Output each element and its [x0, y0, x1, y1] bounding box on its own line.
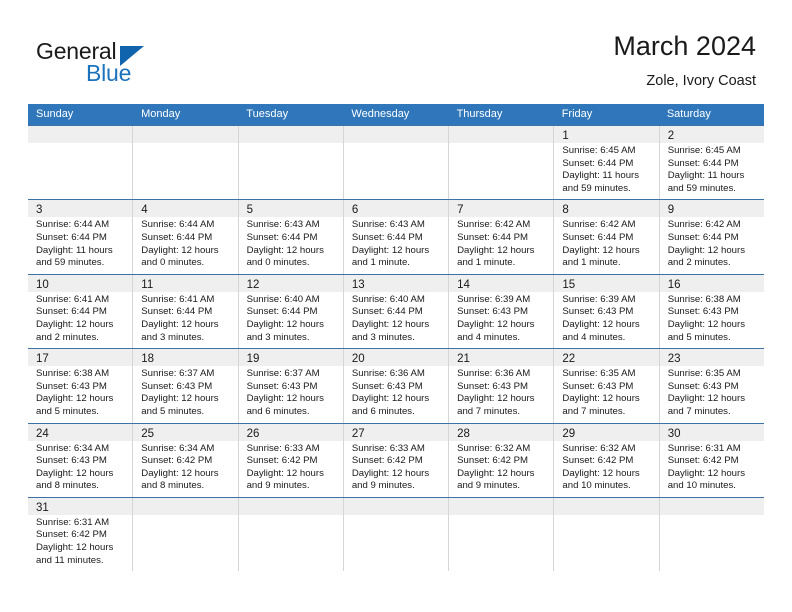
- day-number-bar: 18: [133, 349, 237, 366]
- day-details: Sunrise: 6:34 AMSunset: 6:42 PMDaylight:…: [133, 441, 237, 497]
- day-number-bar: 13: [344, 275, 448, 292]
- sunrise-text: Sunrise: 6:36 AM: [457, 368, 547, 381]
- sunrise-text: Sunrise: 6:35 AM: [562, 368, 652, 381]
- sunset-text: Sunset: 6:44 PM: [668, 158, 758, 171]
- weekday-tuesday: Tuesday: [238, 104, 343, 125]
- calendar-day-cell[interactable]: 27Sunrise: 6:33 AMSunset: 6:42 PMDayligh…: [344, 424, 449, 497]
- day-details: Sunrise: 6:43 AMSunset: 6:44 PMDaylight:…: [344, 217, 448, 273]
- day-details: Sunrise: 6:32 AMSunset: 6:42 PMDaylight:…: [554, 441, 658, 497]
- day-details: Sunrise: 6:42 AMSunset: 6:44 PMDaylight:…: [660, 217, 764, 273]
- day-number-bar: 9: [660, 200, 764, 217]
- day-number-bar: 16: [660, 275, 764, 292]
- day-details: Sunrise: 6:41 AMSunset: 6:44 PMDaylight:…: [28, 292, 132, 348]
- day-number-bar: 25: [133, 424, 237, 441]
- day-number: 29: [562, 428, 575, 440]
- day-number-bar: 23: [660, 349, 764, 366]
- calendar-day-cell[interactable]: 22Sunrise: 6:35 AMSunset: 6:43 PMDayligh…: [554, 349, 659, 422]
- calendar-day-cell[interactable]: 8Sunrise: 6:42 AMSunset: 6:44 PMDaylight…: [554, 200, 659, 273]
- sunrise-text: Sunrise: 6:43 AM: [352, 219, 442, 232]
- day-number: 5: [247, 204, 253, 216]
- daylight-text-line1: Daylight: 12 hours: [141, 393, 231, 406]
- page-title: March 2024: [613, 30, 756, 62]
- sunset-text: Sunset: 6:44 PM: [247, 306, 337, 319]
- daylight-text-line2: and 5 minutes.: [668, 332, 758, 345]
- sunrise-text: Sunrise: 6:32 AM: [457, 443, 547, 456]
- day-number: 1: [562, 130, 568, 142]
- day-number: 28: [457, 428, 470, 440]
- daylight-text-line1: Daylight: 12 hours: [247, 319, 337, 332]
- sunset-text: Sunset: 6:43 PM: [36, 455, 126, 468]
- daylight-text-line1: Daylight: 12 hours: [141, 319, 231, 332]
- day-details: Sunrise: 6:41 AMSunset: 6:44 PMDaylight:…: [133, 292, 237, 348]
- day-number-bar: 31: [28, 498, 132, 515]
- day-details: Sunrise: 6:44 AMSunset: 6:44 PMDaylight:…: [28, 217, 132, 273]
- day-number: 31: [36, 502, 49, 514]
- daylight-text-line2: and 10 minutes.: [562, 480, 652, 493]
- day-number: 25: [141, 428, 154, 440]
- weekday-header-row: Sunday Monday Tuesday Wednesday Thursday…: [28, 104, 764, 125]
- logo-text-blue: Blue: [86, 60, 131, 87]
- day-number-bar: [28, 126, 132, 143]
- day-details: Sunrise: 6:45 AMSunset: 6:44 PMDaylight:…: [554, 143, 658, 199]
- day-number-bar: 26: [239, 424, 343, 441]
- sunrise-text: Sunrise: 6:35 AM: [668, 368, 758, 381]
- day-number-bar: 17: [28, 349, 132, 366]
- daylight-text-line2: and 8 minutes.: [141, 480, 231, 493]
- day-number-bar: [449, 498, 553, 515]
- day-number-bar: [344, 498, 448, 515]
- sunrise-text: Sunrise: 6:39 AM: [457, 294, 547, 307]
- sunrise-text: Sunrise: 6:41 AM: [36, 294, 126, 307]
- calendar-week-row: 10Sunrise: 6:41 AMSunset: 6:44 PMDayligh…: [28, 274, 764, 348]
- day-number-bar: [449, 126, 553, 143]
- calendar-day-cell[interactable]: 10Sunrise: 6:41 AMSunset: 6:44 PMDayligh…: [28, 275, 133, 348]
- calendar-day-cell[interactable]: 11Sunrise: 6:41 AMSunset: 6:44 PMDayligh…: [133, 275, 238, 348]
- day-number: 11: [141, 279, 153, 291]
- day-number-bar: 27: [344, 424, 448, 441]
- day-details: Sunrise: 6:36 AMSunset: 6:43 PMDaylight:…: [449, 366, 553, 422]
- page-header: General Blue March 2024 Zole, Ivory Coas…: [0, 0, 792, 104]
- calendar-day-cell[interactable]: 19Sunrise: 6:37 AMSunset: 6:43 PMDayligh…: [239, 349, 344, 422]
- sunset-text: Sunset: 6:44 PM: [352, 232, 442, 245]
- calendar-day-cell[interactable]: 24Sunrise: 6:34 AMSunset: 6:43 PMDayligh…: [28, 424, 133, 497]
- calendar-day-cell[interactable]: 4Sunrise: 6:44 AMSunset: 6:44 PMDaylight…: [133, 200, 238, 273]
- day-number-bar: 19: [239, 349, 343, 366]
- sunset-text: Sunset: 6:44 PM: [141, 232, 231, 245]
- calendar-empty-cell: [239, 126, 344, 199]
- sunrise-text: Sunrise: 6:40 AM: [352, 294, 442, 307]
- weekday-thursday: Thursday: [449, 104, 554, 125]
- sunrise-text: Sunrise: 6:34 AM: [36, 443, 126, 456]
- day-details: Sunrise: 6:32 AMSunset: 6:42 PMDaylight:…: [449, 441, 553, 497]
- calendar-day-cell[interactable]: 14Sunrise: 6:39 AMSunset: 6:43 PMDayligh…: [449, 275, 554, 348]
- day-number-bar: 11: [133, 275, 237, 292]
- calendar-day-cell[interactable]: 15Sunrise: 6:39 AMSunset: 6:43 PMDayligh…: [554, 275, 659, 348]
- day-number: 4: [141, 204, 147, 216]
- day-number-bar: 14: [449, 275, 553, 292]
- sunrise-text: Sunrise: 6:34 AM: [141, 443, 231, 456]
- daylight-text-line1: Daylight: 12 hours: [457, 245, 547, 258]
- day-number: 26: [247, 428, 260, 440]
- calendar-day-cell[interactable]: 26Sunrise: 6:33 AMSunset: 6:42 PMDayligh…: [239, 424, 344, 497]
- sunset-text: Sunset: 6:44 PM: [141, 306, 231, 319]
- day-number: 2: [668, 130, 674, 142]
- day-details: Sunrise: 6:31 AMSunset: 6:42 PMDaylight:…: [660, 441, 764, 497]
- calendar-day-cell[interactable]: 29Sunrise: 6:32 AMSunset: 6:42 PMDayligh…: [554, 424, 659, 497]
- calendar-weeks: 1Sunrise: 6:45 AMSunset: 6:44 PMDaylight…: [28, 125, 764, 571]
- day-number: 16: [668, 279, 681, 291]
- day-number: 7: [457, 204, 463, 216]
- sunset-text: Sunset: 6:43 PM: [141, 381, 231, 394]
- sunrise-text: Sunrise: 6:45 AM: [562, 145, 652, 158]
- day-details: Sunrise: 6:39 AMSunset: 6:43 PMDaylight:…: [554, 292, 658, 348]
- calendar-day-cell[interactable]: 21Sunrise: 6:36 AMSunset: 6:43 PMDayligh…: [449, 349, 554, 422]
- day-number: 27: [352, 428, 365, 440]
- sunset-text: Sunset: 6:43 PM: [247, 381, 337, 394]
- day-details: Sunrise: 6:37 AMSunset: 6:43 PMDaylight:…: [239, 366, 343, 422]
- calendar-day-cell[interactable]: 18Sunrise: 6:37 AMSunset: 6:43 PMDayligh…: [133, 349, 238, 422]
- calendar-empty-cell: [133, 126, 238, 199]
- daylight-text-line1: Daylight: 11 hours: [36, 245, 126, 258]
- sunset-text: Sunset: 6:43 PM: [457, 306, 547, 319]
- day-details: Sunrise: 6:34 AMSunset: 6:43 PMDaylight:…: [28, 441, 132, 497]
- day-number-bar: 1: [554, 126, 658, 143]
- daylight-text-line2: and 11 minutes.: [36, 555, 126, 568]
- day-number: 23: [668, 353, 681, 365]
- day-number-bar: [554, 498, 658, 515]
- sunset-text: Sunset: 6:44 PM: [352, 306, 442, 319]
- day-number-bar: 3: [28, 200, 132, 217]
- sunset-text: Sunset: 6:44 PM: [562, 232, 652, 245]
- day-number-bar: 24: [28, 424, 132, 441]
- daylight-text-line2: and 5 minutes.: [36, 406, 126, 419]
- sunrise-text: Sunrise: 6:33 AM: [247, 443, 337, 456]
- daylight-text-line2: and 4 minutes.: [457, 332, 547, 345]
- day-details: Sunrise: 6:35 AMSunset: 6:43 PMDaylight:…: [554, 366, 658, 422]
- daylight-text-line1: Daylight: 12 hours: [562, 319, 652, 332]
- sunset-text: Sunset: 6:44 PM: [668, 232, 758, 245]
- day-number-bar: 6: [344, 200, 448, 217]
- daylight-text-line1: Daylight: 12 hours: [247, 468, 337, 481]
- sunset-text: Sunset: 6:43 PM: [668, 381, 758, 394]
- daylight-text-line1: Daylight: 11 hours: [668, 170, 758, 183]
- day-number: 3: [36, 204, 42, 216]
- day-number: 17: [36, 353, 49, 365]
- sunset-text: Sunset: 6:44 PM: [457, 232, 547, 245]
- day-details: Sunrise: 6:45 AMSunset: 6:44 PMDaylight:…: [660, 143, 764, 199]
- day-details: Sunrise: 6:44 AMSunset: 6:44 PMDaylight:…: [133, 217, 237, 273]
- day-number-bar: 28: [449, 424, 553, 441]
- sunrise-text: Sunrise: 6:38 AM: [36, 368, 126, 381]
- calendar-day-cell[interactable]: 5Sunrise: 6:43 AMSunset: 6:44 PMDaylight…: [239, 200, 344, 273]
- calendar-day-cell[interactable]: 23Sunrise: 6:35 AMSunset: 6:43 PMDayligh…: [660, 349, 764, 422]
- sunrise-text: Sunrise: 6:31 AM: [36, 517, 126, 530]
- daylight-text-line2: and 10 minutes.: [668, 480, 758, 493]
- daylight-text-line1: Daylight: 12 hours: [668, 468, 758, 481]
- sunrise-text: Sunrise: 6:42 AM: [668, 219, 758, 232]
- day-number: 8: [562, 204, 568, 216]
- sunset-text: Sunset: 6:42 PM: [457, 455, 547, 468]
- day-number: 9: [668, 204, 674, 216]
- sunrise-text: Sunrise: 6:38 AM: [668, 294, 758, 307]
- calendar-empty-cell: [344, 126, 449, 199]
- sunrise-text: Sunrise: 6:42 AM: [562, 219, 652, 232]
- calendar-day-cell[interactable]: 30Sunrise: 6:31 AMSunset: 6:42 PMDayligh…: [660, 424, 764, 497]
- sunset-text: Sunset: 6:42 PM: [352, 455, 442, 468]
- daylight-text-line2: and 8 minutes.: [36, 480, 126, 493]
- daylight-text-line1: Daylight: 12 hours: [247, 245, 337, 258]
- day-details: Sunrise: 6:43 AMSunset: 6:44 PMDaylight:…: [239, 217, 343, 273]
- daylight-text-line2: and 6 minutes.: [247, 406, 337, 419]
- day-number: 30: [668, 428, 681, 440]
- day-number-bar: [133, 498, 237, 515]
- sunset-text: Sunset: 6:42 PM: [562, 455, 652, 468]
- daylight-text-line1: Daylight: 12 hours: [247, 393, 337, 406]
- calendar-day-cell[interactable]: 7Sunrise: 6:42 AMSunset: 6:44 PMDaylight…: [449, 200, 554, 273]
- day-details: Sunrise: 6:31 AMSunset: 6:42 PMDaylight:…: [28, 515, 132, 571]
- calendar-day-cell[interactable]: 25Sunrise: 6:34 AMSunset: 6:42 PMDayligh…: [133, 424, 238, 497]
- day-number-bar: 20: [344, 349, 448, 366]
- daylight-text-line2: and 59 minutes.: [36, 257, 126, 270]
- sunrise-text: Sunrise: 6:44 AM: [141, 219, 231, 232]
- daylight-text-line1: Daylight: 12 hours: [668, 245, 758, 258]
- sunrise-text: Sunrise: 6:36 AM: [352, 368, 442, 381]
- daylight-text-line2: and 1 minute.: [352, 257, 442, 270]
- calendar-week-row: 17Sunrise: 6:38 AMSunset: 6:43 PMDayligh…: [28, 348, 764, 422]
- daylight-text-line2: and 7 minutes.: [668, 406, 758, 419]
- day-details: Sunrise: 6:40 AMSunset: 6:44 PMDaylight:…: [239, 292, 343, 348]
- sunset-text: Sunset: 6:44 PM: [36, 306, 126, 319]
- calendar-day-cell[interactable]: 3Sunrise: 6:44 AMSunset: 6:44 PMDaylight…: [28, 200, 133, 273]
- calendar-empty-cell: [239, 498, 344, 571]
- daylight-text-line1: Daylight: 12 hours: [352, 468, 442, 481]
- sunset-text: Sunset: 6:43 PM: [562, 381, 652, 394]
- weekday-sunday: Sunday: [28, 104, 133, 125]
- day-number-bar: 30: [660, 424, 764, 441]
- daylight-text-line2: and 0 minutes.: [247, 257, 337, 270]
- calendar-empty-cell: [660, 498, 764, 571]
- day-number-bar: 7: [449, 200, 553, 217]
- daylight-text-line1: Daylight: 12 hours: [352, 245, 442, 258]
- day-number-bar: [239, 498, 343, 515]
- day-details: Sunrise: 6:38 AMSunset: 6:43 PMDaylight:…: [660, 292, 764, 348]
- daylight-text-line1: Daylight: 12 hours: [36, 319, 126, 332]
- sunrise-text: Sunrise: 6:37 AM: [141, 368, 231, 381]
- sunrise-text: Sunrise: 6:44 AM: [36, 219, 126, 232]
- daylight-text-line1: Daylight: 12 hours: [352, 319, 442, 332]
- calendar-week-row: 3Sunrise: 6:44 AMSunset: 6:44 PMDaylight…: [28, 199, 764, 273]
- daylight-text-line1: Daylight: 12 hours: [457, 468, 547, 481]
- daylight-text-line2: and 4 minutes.: [562, 332, 652, 345]
- title-block: March 2024 Zole, Ivory Coast: [613, 30, 756, 91]
- sunrise-text: Sunrise: 6:37 AM: [247, 368, 337, 381]
- daylight-text-line2: and 3 minutes.: [247, 332, 337, 345]
- sunrise-text: Sunrise: 6:42 AM: [457, 219, 547, 232]
- sunset-text: Sunset: 6:43 PM: [457, 381, 547, 394]
- sunrise-text: Sunrise: 6:40 AM: [247, 294, 337, 307]
- sunset-text: Sunset: 6:42 PM: [668, 455, 758, 468]
- weekday-monday: Monday: [133, 104, 238, 125]
- day-number: 15: [562, 279, 575, 291]
- day-number: 10: [36, 279, 49, 291]
- calendar-day-cell[interactable]: 31Sunrise: 6:31 AMSunset: 6:42 PMDayligh…: [28, 498, 133, 571]
- daylight-text-line2: and 9 minutes.: [247, 480, 337, 493]
- day-number-bar: 12: [239, 275, 343, 292]
- calendar-grid: Sunday Monday Tuesday Wednesday Thursday…: [28, 104, 764, 571]
- day-number: 13: [352, 279, 365, 291]
- daylight-text-line1: Daylight: 11 hours: [562, 170, 652, 183]
- daylight-text-line2: and 1 minute.: [562, 257, 652, 270]
- day-details: Sunrise: 6:42 AMSunset: 6:44 PMDaylight:…: [449, 217, 553, 273]
- page-subtitle: Zole, Ivory Coast: [613, 71, 756, 91]
- sunset-text: Sunset: 6:42 PM: [247, 455, 337, 468]
- day-number: 24: [36, 428, 49, 440]
- day-number-bar: 22: [554, 349, 658, 366]
- daylight-text-line1: Daylight: 12 hours: [36, 468, 126, 481]
- sunset-text: Sunset: 6:44 PM: [562, 158, 652, 171]
- sunset-text: Sunset: 6:43 PM: [352, 381, 442, 394]
- sunset-text: Sunset: 6:43 PM: [668, 306, 758, 319]
- day-number-bar: [344, 126, 448, 143]
- day-number-bar: 2: [660, 126, 764, 143]
- daylight-text-line2: and 2 minutes.: [668, 257, 758, 270]
- sunrise-text: Sunrise: 6:39 AM: [562, 294, 652, 307]
- day-details: Sunrise: 6:37 AMSunset: 6:43 PMDaylight:…: [133, 366, 237, 422]
- weekday-saturday: Saturday: [659, 104, 764, 125]
- day-details: Sunrise: 6:33 AMSunset: 6:42 PMDaylight:…: [239, 441, 343, 497]
- daylight-text-line1: Daylight: 12 hours: [562, 468, 652, 481]
- sunrise-text: Sunrise: 6:43 AM: [247, 219, 337, 232]
- day-number-bar: [133, 126, 237, 143]
- sunset-text: Sunset: 6:43 PM: [562, 306, 652, 319]
- sunrise-text: Sunrise: 6:32 AM: [562, 443, 652, 456]
- calendar-day-cell[interactable]: 13Sunrise: 6:40 AMSunset: 6:44 PMDayligh…: [344, 275, 449, 348]
- day-number-bar: [239, 126, 343, 143]
- daylight-text-line2: and 9 minutes.: [352, 480, 442, 493]
- daylight-text-line2: and 3 minutes.: [141, 332, 231, 345]
- day-number-bar: 5: [239, 200, 343, 217]
- calendar-day-cell[interactable]: 6Sunrise: 6:43 AMSunset: 6:44 PMDaylight…: [344, 200, 449, 273]
- day-number: 22: [562, 353, 575, 365]
- daylight-text-line2: and 59 minutes.: [668, 183, 758, 196]
- day-number: 21: [457, 353, 470, 365]
- day-details: Sunrise: 6:33 AMSunset: 6:42 PMDaylight:…: [344, 441, 448, 497]
- daylight-text-line2: and 5 minutes.: [141, 406, 231, 419]
- calendar-day-cell[interactable]: 20Sunrise: 6:36 AMSunset: 6:43 PMDayligh…: [344, 349, 449, 422]
- daylight-text-line2: and 59 minutes.: [562, 183, 652, 196]
- weekday-friday: Friday: [554, 104, 659, 125]
- daylight-text-line1: Daylight: 12 hours: [141, 468, 231, 481]
- daylight-text-line1: Daylight: 12 hours: [36, 542, 126, 555]
- day-number-bar: 21: [449, 349, 553, 366]
- day-number: 19: [247, 353, 260, 365]
- day-number-bar: 10: [28, 275, 132, 292]
- calendar-day-cell[interactable]: 28Sunrise: 6:32 AMSunset: 6:42 PMDayligh…: [449, 424, 554, 497]
- daylight-text-line2: and 7 minutes.: [457, 406, 547, 419]
- sunrise-text: Sunrise: 6:31 AM: [668, 443, 758, 456]
- calendar-empty-cell: [554, 498, 659, 571]
- daylight-text-line1: Daylight: 12 hours: [562, 245, 652, 258]
- daylight-text-line2: and 7 minutes.: [562, 406, 652, 419]
- daylight-text-line1: Daylight: 12 hours: [668, 393, 758, 406]
- calendar-day-cell[interactable]: 17Sunrise: 6:38 AMSunset: 6:43 PMDayligh…: [28, 349, 133, 422]
- calendar-day-cell[interactable]: 1Sunrise: 6:45 AMSunset: 6:44 PMDaylight…: [554, 126, 659, 199]
- calendar-day-cell[interactable]: 16Sunrise: 6:38 AMSunset: 6:43 PMDayligh…: [660, 275, 764, 348]
- day-number: 6: [352, 204, 358, 216]
- day-details: Sunrise: 6:39 AMSunset: 6:43 PMDaylight:…: [449, 292, 553, 348]
- day-number: 20: [352, 353, 365, 365]
- daylight-text-line1: Daylight: 12 hours: [457, 319, 547, 332]
- sunset-text: Sunset: 6:42 PM: [36, 529, 126, 542]
- calendar-empty-cell: [133, 498, 238, 571]
- sunrise-text: Sunrise: 6:45 AM: [668, 145, 758, 158]
- calendar-day-cell[interactable]: 9Sunrise: 6:42 AMSunset: 6:44 PMDaylight…: [660, 200, 764, 273]
- day-number-bar: 4: [133, 200, 237, 217]
- daylight-text-line2: and 2 minutes.: [36, 332, 126, 345]
- general-blue-logo[interactable]: General Blue: [36, 38, 216, 90]
- day-number: 18: [141, 353, 154, 365]
- calendar-week-row: 1Sunrise: 6:45 AMSunset: 6:44 PMDaylight…: [28, 125, 764, 199]
- calendar-empty-cell: [449, 498, 554, 571]
- calendar-page: General Blue March 2024 Zole, Ivory Coas…: [0, 0, 792, 612]
- day-details: Sunrise: 6:36 AMSunset: 6:43 PMDaylight:…: [344, 366, 448, 422]
- daylight-text-line2: and 1 minute.: [457, 257, 547, 270]
- calendar-empty-cell: [344, 498, 449, 571]
- day-number-bar: 29: [554, 424, 658, 441]
- calendar-day-cell[interactable]: 12Sunrise: 6:40 AMSunset: 6:44 PMDayligh…: [239, 275, 344, 348]
- day-number: 12: [247, 279, 260, 291]
- day-details: Sunrise: 6:42 AMSunset: 6:44 PMDaylight:…: [554, 217, 658, 273]
- day-details: Sunrise: 6:38 AMSunset: 6:43 PMDaylight:…: [28, 366, 132, 422]
- day-number-bar: 15: [554, 275, 658, 292]
- day-number-bar: 8: [554, 200, 658, 217]
- calendar-empty-cell: [449, 126, 554, 199]
- day-number-bar: [660, 498, 764, 515]
- calendar-week-row: 31Sunrise: 6:31 AMSunset: 6:42 PMDayligh…: [28, 497, 764, 571]
- sunset-text: Sunset: 6:42 PM: [141, 455, 231, 468]
- daylight-text-line2: and 9 minutes.: [457, 480, 547, 493]
- sunrise-text: Sunrise: 6:41 AM: [141, 294, 231, 307]
- calendar-week-row: 24Sunrise: 6:34 AMSunset: 6:43 PMDayligh…: [28, 423, 764, 497]
- daylight-text-line1: Daylight: 12 hours: [668, 319, 758, 332]
- day-number: 14: [457, 279, 470, 291]
- sunset-text: Sunset: 6:44 PM: [247, 232, 337, 245]
- weekday-wednesday: Wednesday: [343, 104, 448, 125]
- sunset-text: Sunset: 6:43 PM: [36, 381, 126, 394]
- sunset-text: Sunset: 6:44 PM: [36, 232, 126, 245]
- daylight-text-line1: Daylight: 12 hours: [141, 245, 231, 258]
- daylight-text-line2: and 6 minutes.: [352, 406, 442, 419]
- daylight-text-line1: Daylight: 12 hours: [36, 393, 126, 406]
- calendar-empty-cell: [28, 126, 133, 199]
- daylight-text-line1: Daylight: 12 hours: [457, 393, 547, 406]
- daylight-text-line2: and 0 minutes.: [141, 257, 231, 270]
- day-details: Sunrise: 6:35 AMSunset: 6:43 PMDaylight:…: [660, 366, 764, 422]
- day-details: Sunrise: 6:40 AMSunset: 6:44 PMDaylight:…: [344, 292, 448, 348]
- sunrise-text: Sunrise: 6:33 AM: [352, 443, 442, 456]
- daylight-text-line1: Daylight: 12 hours: [562, 393, 652, 406]
- daylight-text-line2: and 3 minutes.: [352, 332, 442, 345]
- calendar-day-cell[interactable]: 2Sunrise: 6:45 AMSunset: 6:44 PMDaylight…: [660, 126, 764, 199]
- daylight-text-line1: Daylight: 12 hours: [352, 393, 442, 406]
